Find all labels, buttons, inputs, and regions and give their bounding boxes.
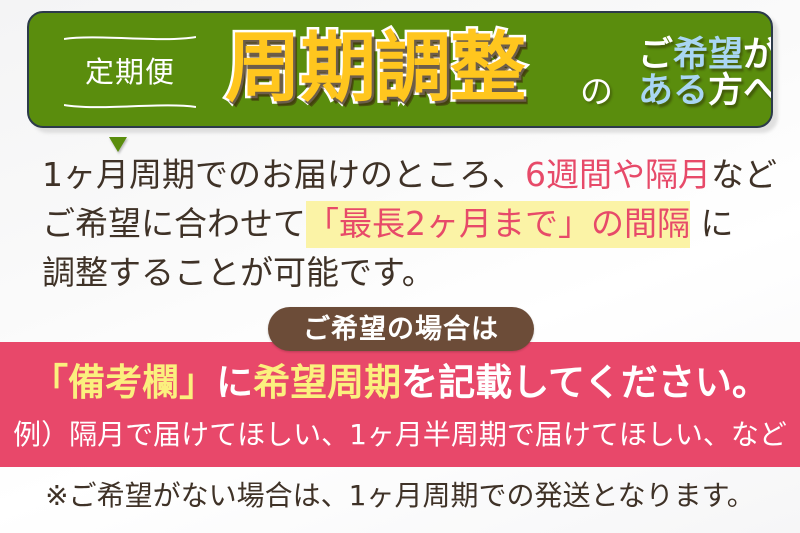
condition-pill: ご希望の場合は: [268, 307, 534, 351]
page-title: 周期調整: [225, 30, 525, 106]
body-1-run-1: 6週間: [525, 155, 612, 194]
body-1-run-3: 隔月: [645, 155, 711, 194]
header-subtext-1-run-1: 希: [673, 35, 708, 75]
condition-pill-label: ご希望の場合は: [303, 316, 499, 343]
header-subtext-2-run-2: 方: [708, 71, 743, 111]
header-subtext-2-run-1: る: [673, 71, 708, 111]
instruction-headline-run-3: を記載してください。: [401, 361, 769, 404]
body-1-run-2: や: [612, 155, 645, 194]
instruction-example: 例）隔月で届けてほしい、1ヶ月半周期で届けてほしい、など: [0, 421, 800, 449]
instruction-headline: 「備考欄」に希望周期を記載してください。: [0, 364, 800, 401]
header-subtext-1-run-3: が: [743, 35, 773, 75]
subscription-badge: 定期便: [66, 37, 194, 107]
header-subtext-2-run-3: へ: [743, 71, 773, 111]
body-line-2: ご希望に合わせて「最長2ヶ月まで」の間隔 に: [42, 199, 772, 248]
instruction-headline-run-2: 希望周期: [253, 361, 401, 404]
header-subtext-1-run-2: 望: [708, 35, 743, 75]
body-1-run-0: 1ヶ月周期でのお届けのところ、: [42, 155, 525, 194]
body-paragraph: 1ヶ月周期でのお届けのところ、6週間や隔月など ご希望に合わせて「最長2ヶ月まで…: [42, 150, 772, 297]
header-subtext: ご希望が ある方へ: [638, 37, 773, 110]
wavy-rule-top-icon: [64, 34, 196, 42]
footer-note: ※ご希望がない場合は、1ヶ月周期での発送となります。: [0, 482, 800, 510]
header-subtext-2-run-0: あ: [638, 71, 673, 111]
header-bubble: 定期便 周期調整 の ご希望が ある方へ: [27, 11, 773, 128]
body-3-run-0: 調整することが可能です。: [42, 253, 435, 292]
wavy-rule-bottom-icon: [64, 102, 196, 110]
header-subtext-line2: ある方へ: [638, 73, 773, 109]
body-line-3: 調整することが可能です。: [42, 248, 772, 297]
body-2-run-1: 「最長2ヶ月まで」の間隔: [306, 201, 690, 248]
body-2-run-2: に: [690, 204, 734, 243]
header-box: 定期便 周期調整 の ご希望が ある方へ: [27, 11, 773, 128]
instruction-headline-run-0: 「備考欄」: [31, 361, 216, 404]
header-subtext-line1: ご希望が: [638, 37, 773, 73]
header-subtext-1-run-0: ご: [638, 35, 673, 75]
bubble-tail-icon: [109, 137, 127, 152]
body-2-run-0: ご希望に合わせて: [42, 204, 306, 243]
instruction-headline-run-1: に: [216, 361, 253, 404]
body-1-run-4: など: [711, 155, 777, 194]
body-line-1: 1ヶ月周期でのお届けのところ、6週間や隔月など: [42, 150, 772, 199]
promo-banner: 定期便 周期調整 の ご希望が ある方へ 1ヶ月周期でのお届けのところ、6週間や…: [0, 0, 800, 533]
title-connector: の: [580, 75, 613, 108]
subscription-badge-label: 定期便: [85, 58, 175, 87]
